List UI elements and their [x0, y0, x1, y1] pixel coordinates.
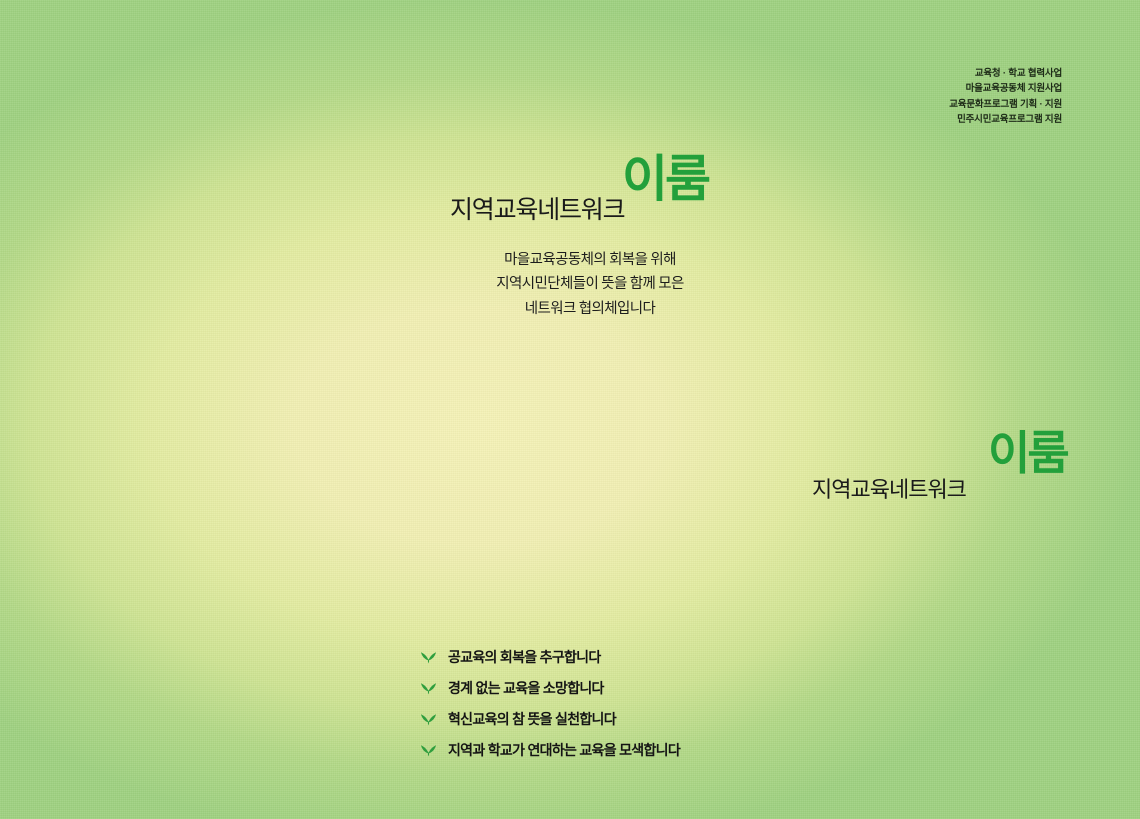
mission-item: 공교육의 회복을 추구합니다	[420, 647, 780, 667]
sprout-icon	[420, 713, 437, 726]
tagline-line: 지역시민단체들이 뜻을 함께 모은	[440, 272, 740, 297]
mission-item: 혁신교육의 참 뜻을 실천합니다	[420, 709, 780, 729]
mission-text: 경계 없는 교육을 소망합니다	[448, 678, 604, 698]
mission-item: 지역과 학교가 연대하는 교육을 모색합니다	[420, 740, 780, 760]
brand-row: 지역교육네트워크 이룸	[440, 154, 740, 226]
sprout-icon	[420, 744, 437, 757]
tagline: 마을교육공동체의 회복을 위해 지역시민단체들이 뜻을 함께 모은 네트워크 협…	[440, 248, 740, 323]
iroom-logo-mark: 이룸	[622, 154, 708, 204]
credit-line: 교육문화프로그램 기획 · 지원	[0, 97, 1062, 112]
credit-line: 민주시민교육프로그램 지원	[0, 112, 1062, 127]
secondary-logo: 지역교육네트워크 이룸	[812, 430, 1072, 510]
mission-list: 공교육의 회복을 추구합니다 경계 없는 교육을 소망합니다 혁신교육의 참 뜻…	[420, 647, 780, 760]
credit-line: 교육청 · 학교 협력사업	[0, 66, 1062, 81]
credits-block: 교육청 · 학교 협력사업 마을교육공동체 지원사업 교육문화프로그램 기획 ·…	[0, 66, 1062, 128]
network-name: 지역교육네트워크	[450, 190, 624, 226]
mission-text: 혁신교육의 참 뜻을 실천합니다	[448, 709, 616, 729]
tagline-line: 마을교육공동체의 회복을 위해	[440, 248, 740, 273]
secondary-network-name: 지역교육네트워크	[812, 472, 966, 504]
credit-line: 마을교육공동체 지원사업	[0, 81, 1062, 96]
infographic-page: 교육청 · 학교 협력사업 마을교육공동체 지원사업 교육문화프로그램 기획 ·…	[0, 0, 1140, 819]
sprout-icon	[420, 682, 437, 695]
mission-item: 경계 없는 교육을 소망합니다	[420, 678, 780, 698]
title-block: 지역교육네트워크 이룸 마을교육공동체의 회복을 위해 지역시민단체들이 뜻을 …	[440, 154, 740, 323]
mission-text: 공교육의 회복을 추구합니다	[448, 647, 601, 667]
tagline-line: 네트워크 협의체입니다	[440, 297, 740, 322]
sprout-icon	[420, 651, 437, 664]
secondary-iroom-logo-mark: 이룸	[988, 430, 1067, 476]
mission-text: 지역과 학교가 연대하는 교육을 모색합니다	[448, 740, 680, 760]
